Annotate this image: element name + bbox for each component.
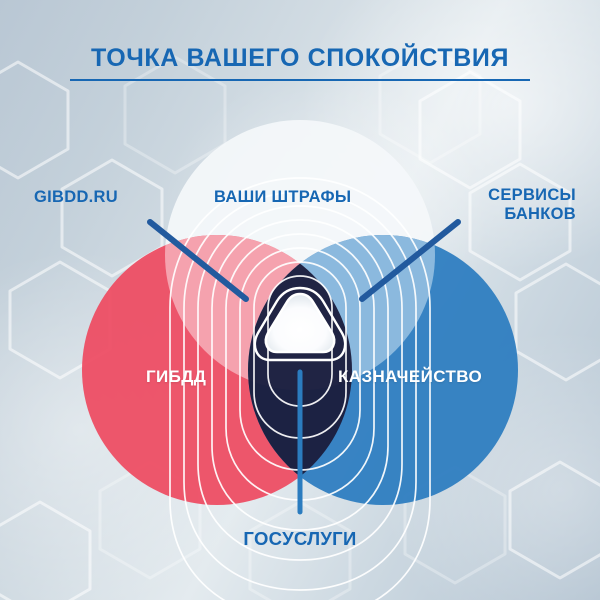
label-gosuslugi: ГОСУСЛУГИ xyxy=(0,529,600,548)
page-title: ТОЧКА ВАШЕГО СПОКОЙСТВИЯ xyxy=(0,44,600,73)
venn-label-kaznacheystvo: КАЗНАЧЕЙСТВО xyxy=(338,367,482,387)
label-gibdd-ru: GIBDD.RU xyxy=(34,188,118,207)
venn-diagram-artwork xyxy=(0,0,600,600)
venn-label-gibdd: ГИБДД xyxy=(146,367,206,387)
label-bank-services: СЕРВИСЫ БАНКОВ xyxy=(488,186,576,224)
infographic-canvas: ТОЧКА ВАШЕГО СПОКОЙСТВИЯ GIBDD.RU ВАШИ Ш… xyxy=(0,0,600,600)
title-underline xyxy=(70,79,530,81)
label-your-fines: ВАШИ ШТРАФЫ xyxy=(214,188,351,207)
